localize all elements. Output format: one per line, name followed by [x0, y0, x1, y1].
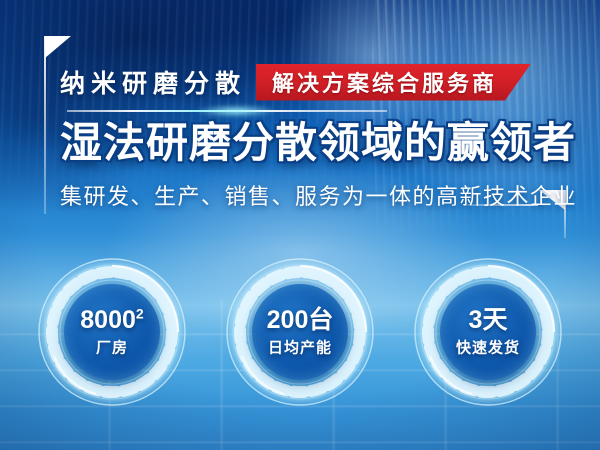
bracket-triangle-icon	[45, 36, 71, 58]
stat-text: 3天 快速发货	[408, 307, 568, 358]
stat-value: 3天	[408, 307, 568, 334]
stat-text: 80002 厂房	[32, 307, 192, 358]
stat-superscript: 2	[136, 306, 144, 322]
sub-title: 集研发、生产、销售、服务为一体的高新技术企业	[60, 179, 560, 211]
stat-caption: 厂房	[32, 336, 192, 357]
stat-value: 80002	[32, 307, 192, 334]
stat-badge-capacity: 200台 日均产能	[220, 252, 380, 412]
tagline-row: 纳米研磨分散 解决方案综合服务商	[60, 60, 560, 104]
stat-badge-shipping: 3天 快速发货	[408, 252, 568, 412]
stat-text: 200台 日均产能	[220, 307, 380, 358]
stat-badge-factory: 80002 厂房	[32, 252, 192, 412]
tagline-red-badge: 解决方案综合服务商	[256, 64, 531, 101]
glow-divider-line	[67, 109, 387, 113]
divider-flare	[176, 102, 296, 120]
headline-block: 纳米研磨分散 解决方案综合服务商 湿法研磨分散领域的赢领者 集研发、生产、销售、…	[60, 60, 560, 211]
tagline-badge-label: 解决方案综合服务商	[272, 66, 497, 98]
main-title: 湿法研磨分散领域的赢领者	[60, 120, 560, 165]
promotional-banner: 纳米研磨分散 解决方案综合服务商 湿法研磨分散领域的赢领者 集研发、生产、销售、…	[0, 0, 600, 450]
stats-row: 80002 厂房 200台 日均产能	[0, 252, 600, 412]
stat-caption: 快速发货	[408, 336, 568, 357]
stat-caption: 日均产能	[220, 336, 380, 357]
bracket-vertical-line	[44, 36, 46, 214]
tagline-text: 纳米研磨分散	[60, 64, 246, 100]
stat-value: 200台	[220, 307, 380, 334]
